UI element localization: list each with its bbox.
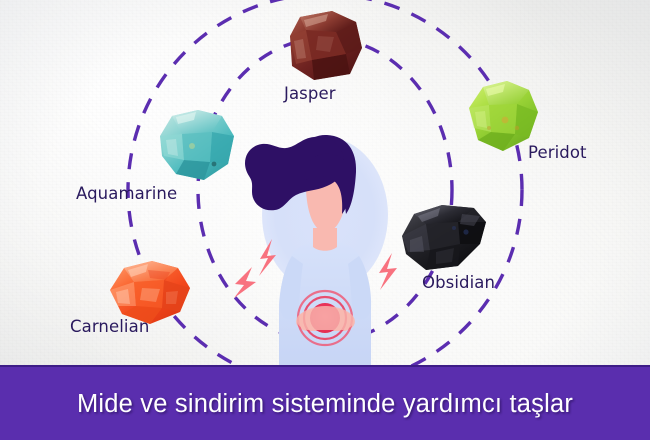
jasper-stone-icon (276, 8, 368, 84)
stone-label-peridot: Peridot (528, 145, 587, 162)
pain-bolt-icon (379, 253, 397, 290)
gemstone-infographic: Jasper Aquamarine Peridot Obsidian Carne… (0, 0, 650, 440)
pain-bolt-icon (234, 267, 256, 298)
stone-jasper[interactable] (276, 8, 368, 84)
banner-title-text: Mide ve sindirim sisteminde yardımcı taş… (77, 390, 573, 419)
stone-aquamarine[interactable] (152, 106, 240, 184)
title-banner: Mide ve sindirim sisteminde yardımcı taş… (0, 365, 650, 440)
stone-label-jasper: Jasper (284, 86, 336, 103)
stone-label-obsidian: Obsidian (422, 275, 495, 292)
aquamarine-stone-icon (152, 106, 240, 184)
pain-bolts-right (379, 253, 397, 290)
stone-label-aquamarine: Aquamarine (76, 186, 177, 203)
stone-obsidian[interactable] (396, 192, 492, 276)
diagram-stage: Jasper Aquamarine Peridot Obsidian Carne… (0, 0, 650, 365)
stone-label-carnelian: Carnelian (70, 319, 149, 336)
obsidian-stone-icon (396, 192, 492, 276)
